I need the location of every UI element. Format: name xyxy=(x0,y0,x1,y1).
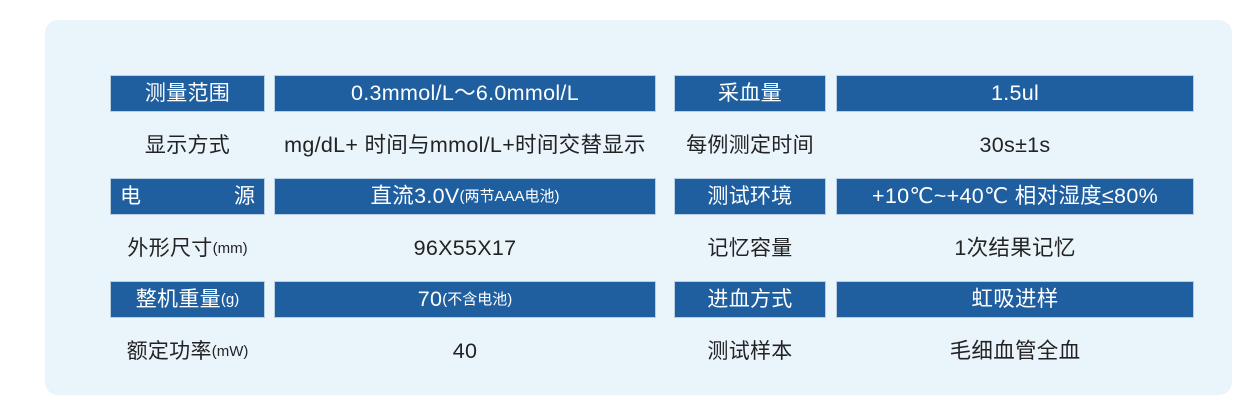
spec-label-cell: 测量范围 xyxy=(110,75,265,112)
spec-value-text: 30s±1s xyxy=(980,135,1051,157)
spec-row: 记忆容量 1次结果记忆 xyxy=(674,223,1194,275)
spec-label-text: 整机重量 xyxy=(136,289,221,310)
spec-value-unit: (不含电池) xyxy=(442,292,512,307)
spec-value-text: +10℃~+40℃ 相对湿度≤80% xyxy=(872,186,1158,208)
spec-row: 整机重量(g) 70(不含电池) xyxy=(110,274,656,326)
specification-panel: 测量范围 0.3mmol/L～6.0mmol/L 显示方式 mg/dL+ 时间与… xyxy=(45,20,1232,395)
spec-value-text: 直流3.0V xyxy=(370,186,459,208)
spec-value-cell: 30s±1s xyxy=(836,127,1194,164)
spec-row: 电 源 直流3.0V(两节AAA电池) xyxy=(110,171,656,223)
spec-row: 采血量 1.5ul xyxy=(674,68,1194,120)
spec-row: 每例测定时间 30s±1s xyxy=(674,120,1194,172)
spec-value-text: 96X55X17 xyxy=(414,238,517,260)
spec-value-text: 毛细血管全血 xyxy=(950,341,1081,363)
spec-value-cell: 70(不含电池) xyxy=(274,281,656,318)
spec-label-cell: 每例测定时间 xyxy=(674,127,826,164)
spec-label-text: 电 源 xyxy=(103,186,272,207)
spec-value-text: mg/dL+ 时间与mmol/L+时间交替显示 xyxy=(284,135,646,157)
spec-value-cell: mg/dL+ 时间与mmol/L+时间交替显示 xyxy=(274,127,656,164)
spec-label-text: 外形尺寸 xyxy=(127,238,212,259)
spec-value-cell: +10℃~+40℃ 相对湿度≤80% xyxy=(836,178,1194,215)
spec-label-text: 进血方式 xyxy=(707,289,792,310)
spec-value-cell: 1.5ul xyxy=(836,75,1194,112)
spec-value-cell: 直流3.0V(两节AAA电池) xyxy=(274,178,656,215)
spec-label-unit: (mW) xyxy=(212,344,249,359)
spec-value-text: 1次结果记忆 xyxy=(954,238,1075,260)
spec-value-text: 40 xyxy=(453,341,478,363)
spec-value-text: 1.5ul xyxy=(991,83,1039,105)
spec-value-unit: (两节AAA电池) xyxy=(460,189,560,204)
spec-row: 额定功率(mW) 40 xyxy=(110,326,656,378)
spec-row: 测试环境 +10℃~+40℃ 相对湿度≤80% xyxy=(674,171,1194,223)
spec-row: 显示方式 mg/dL+ 时间与mmol/L+时间交替显示 xyxy=(110,120,656,172)
spec-label-cell: 进血方式 xyxy=(674,281,826,318)
spec-column-left: 测量范围 0.3mmol/L～6.0mmol/L 显示方式 mg/dL+ 时间与… xyxy=(110,68,656,377)
spec-value-cell: 1次结果记忆 xyxy=(836,230,1194,267)
spec-row: 外形尺寸(mm) 96X55X17 xyxy=(110,223,656,275)
spec-value-text: 0.3mmol/L～6.0mmol/L xyxy=(351,83,579,105)
spec-label-text: 额定功率 xyxy=(127,341,212,362)
spec-value-cell: 虹吸进样 xyxy=(836,281,1194,318)
spec-label-text: 测量范围 xyxy=(145,83,230,104)
spec-value-text: 虹吸进样 xyxy=(971,289,1058,311)
spec-label-text: 显示方式 xyxy=(145,135,230,156)
spec-label-cell: 整机重量(g) xyxy=(110,281,265,318)
spec-label-unit: (g) xyxy=(221,292,239,307)
spec-value-cell: 96X55X17 xyxy=(274,230,656,267)
spec-value-cell: 0.3mmol/L～6.0mmol/L xyxy=(274,75,656,112)
spec-label-text: 测试环境 xyxy=(707,186,792,207)
spec-label-cell: 电 源 xyxy=(110,178,265,215)
spec-row: 进血方式 虹吸进样 xyxy=(674,274,1194,326)
spec-value-cell: 毛细血管全血 xyxy=(836,333,1194,370)
spec-label-unit: (mm) xyxy=(213,241,248,256)
spec-label-cell: 外形尺寸(mm) xyxy=(110,230,265,267)
spec-label-cell: 额定功率(mW) xyxy=(110,333,265,370)
spec-label-text: 测试样本 xyxy=(707,341,792,362)
spec-label-cell: 显示方式 xyxy=(110,127,265,164)
spec-column-right: 采血量 1.5ul 每例测定时间 30s±1s 测试环境 + xyxy=(674,68,1194,377)
spec-label-cell: 测试环境 xyxy=(674,178,826,215)
specification-table: 测量范围 0.3mmol/L～6.0mmol/L 显示方式 mg/dL+ 时间与… xyxy=(110,68,1203,377)
spec-value-cell: 40 xyxy=(274,333,656,370)
spec-row: 测量范围 0.3mmol/L～6.0mmol/L xyxy=(110,68,656,120)
spec-label-cell: 测试样本 xyxy=(674,333,826,370)
spec-value-text: 70 xyxy=(418,289,443,311)
spec-label-text: 记忆容量 xyxy=(707,238,792,259)
spec-label-text: 采血量 xyxy=(718,83,782,104)
spec-label-cell: 记忆容量 xyxy=(674,230,826,267)
spec-label-cell: 采血量 xyxy=(674,75,826,112)
spec-label-text: 每例测定时间 xyxy=(686,135,814,156)
spec-row: 测试样本 毛细血管全血 xyxy=(674,326,1194,378)
